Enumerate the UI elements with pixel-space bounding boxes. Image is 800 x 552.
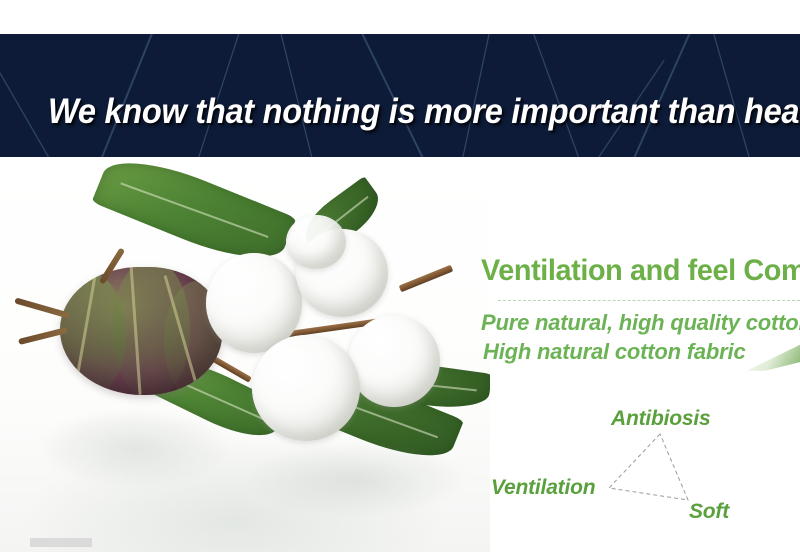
banner-title: We know that nothing is more important t…: [48, 92, 714, 132]
surface-reflection-right: [248, 443, 464, 515]
surface-reflection-left: [40, 409, 230, 487]
header-banner: We know that nothing is more important t…: [0, 34, 800, 157]
cotton-boll-lower-center: [252, 335, 360, 441]
subline-pure-natural: Pure natural, high quality cotton: [481, 310, 800, 336]
cotton-boll-small-top: [286, 215, 346, 269]
benefits-triangle-diagram: Antibiosis Ventilation Soft: [470, 395, 800, 535]
headline-divider: [498, 300, 800, 301]
triangle-label-antibiosis: Antibiosis: [611, 407, 711, 431]
promotional-image: We know that nothing is more important t…: [0, 0, 800, 552]
cotton-photo: [0, 157, 490, 552]
triangle-label-ventilation: Ventilation: [491, 476, 595, 500]
cotton-boll-right: [348, 315, 440, 407]
cotton-bud-unopened: [60, 267, 222, 395]
headline-text: Ventilation and feel Comfortable: [481, 254, 787, 288]
triangle-label-soft: Soft: [689, 500, 729, 524]
leaf-accent-icon: [746, 337, 800, 371]
bottom-gray-swatch: [30, 538, 92, 547]
twig-right: [399, 265, 454, 292]
subline-cotton-fabric: High natural cotton fabric: [483, 339, 745, 365]
